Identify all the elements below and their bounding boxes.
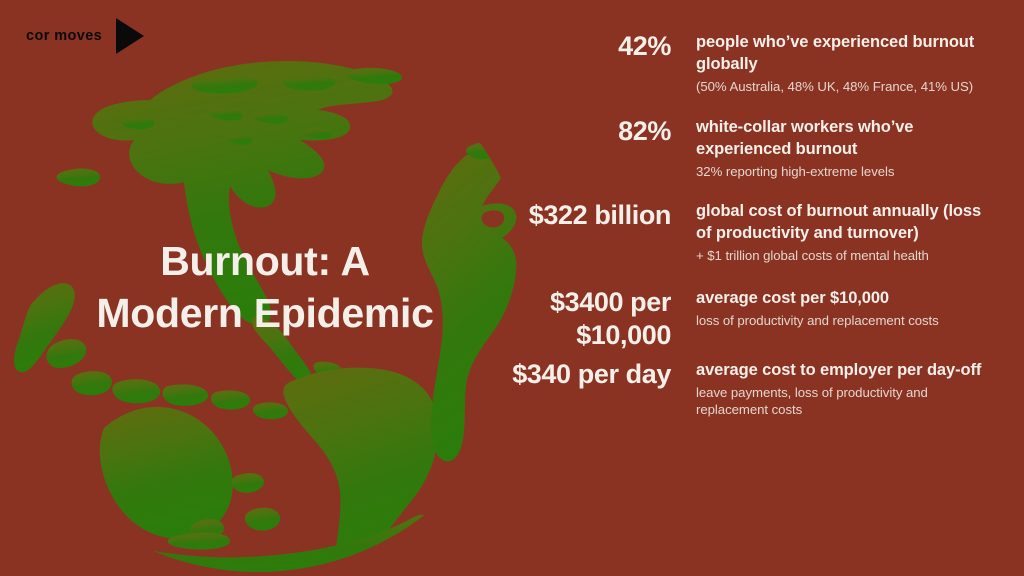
stat-note: 32% reporting high-extreme levels — [696, 163, 1000, 181]
stat-value: 82% — [500, 115, 696, 148]
infographic-slide: cor moves Burnout: A Modern Epidemic 42%… — [0, 0, 1024, 576]
stat-value: 42% — [500, 30, 696, 63]
stat-label: average cost per $10,000 — [696, 288, 1000, 310]
page-title: Burnout: A Modern Epidemic — [40, 235, 490, 340]
stat-value: $322 billion — [500, 199, 696, 232]
stat-label: white-collar workers who’ve experienced … — [696, 117, 1000, 161]
stat-label: global cost of burnout annually (loss of… — [696, 201, 1000, 245]
stat-description: global cost of burnout annually (loss of… — [696, 199, 1000, 264]
stat-row: $322 billion global cost of burnout annu… — [500, 199, 1000, 264]
stat-note: leave payments, loss of productivity and… — [696, 384, 1000, 419]
stat-note: loss of productivity and replacement cos… — [696, 312, 1000, 330]
statistics-list: 42% people who’ve experienced burnout gl… — [500, 30, 1000, 419]
stat-description: white-collar workers who’ve experienced … — [696, 115, 1000, 180]
stat-row: 42% people who’ve experienced burnout gl… — [500, 30, 1000, 95]
stat-description: average cost to employer per day-off lea… — [696, 358, 1000, 419]
stat-note: + $1 trillion global costs of mental hea… — [696, 247, 1000, 265]
stat-row: $3400 per $10,000 average cost per $10,0… — [500, 286, 1000, 352]
stat-value: $340 per day — [500, 358, 696, 391]
stat-label: people who’ve experienced burnout global… — [696, 32, 1000, 76]
stat-value: $3400 per $10,000 — [500, 286, 696, 352]
stat-description: people who’ve experienced burnout global… — [696, 30, 1000, 95]
stat-label: average cost to employer per day-off — [696, 360, 1000, 382]
brand-logo: cor moves — [26, 18, 144, 54]
stat-row: 82% white-collar workers who’ve experien… — [500, 115, 1000, 180]
stat-description: average cost per $10,000 loss of product… — [696, 286, 1000, 329]
stat-note: (50% Australia, 48% UK, 48% France, 41% … — [696, 78, 1000, 96]
play-triangle-icon — [116, 18, 144, 54]
stat-row: $340 per day average cost to employer pe… — [500, 358, 1000, 419]
brand-name: cor moves — [26, 29, 102, 44]
